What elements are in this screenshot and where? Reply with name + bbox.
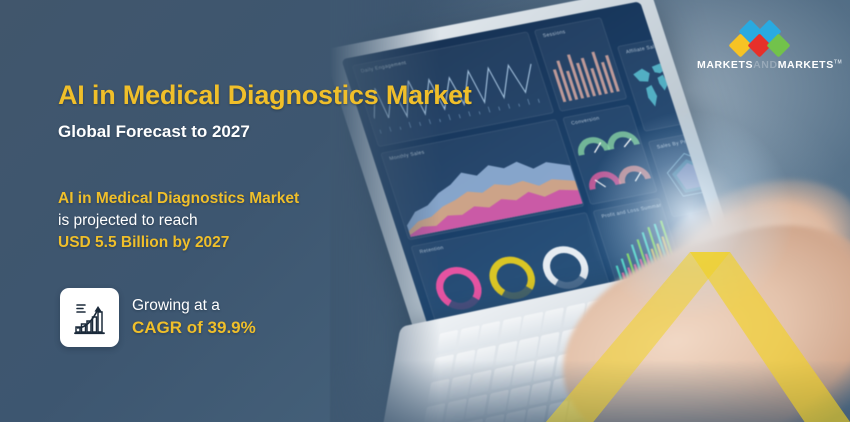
cagr-text: Growing at a CAGR of 39.9% xyxy=(132,296,256,338)
donut-ring xyxy=(484,253,541,303)
screen-glow xyxy=(585,110,795,320)
marketsandmarkets-logo[interactable]: MARKETSANDMARKETSTM xyxy=(697,22,822,71)
panel-title: Sessions xyxy=(542,29,566,39)
logo-trademark: TM xyxy=(834,60,842,66)
cagr-prefix: Growing at a xyxy=(132,296,256,316)
logo-diamonds-icon xyxy=(724,22,796,56)
logo-word-markets-2: MARKETS xyxy=(778,59,834,71)
growth-bar-chart-arrow-icon xyxy=(60,288,119,347)
photo-left-fade xyxy=(330,0,440,422)
pitch-block: AI in Medical Diagnostics Market is proj… xyxy=(58,188,299,254)
marketing-banner: Daily Engagement xyxy=(0,0,850,422)
page-title: AI in Medical Diagnostics Market xyxy=(58,80,472,111)
logo-word-and: AND xyxy=(753,59,778,71)
bar-chart-svg xyxy=(543,34,624,107)
cagr-block: Growing at a CAGR of 39.9% xyxy=(60,288,256,347)
pitch-line-1: AI in Medical Diagnostics Market xyxy=(58,188,299,210)
cagr-value: CAGR of 39.9% xyxy=(132,317,256,339)
photo-bottom-fade xyxy=(330,360,850,422)
donut-ring xyxy=(537,242,594,292)
page-subtitle: Global Forecast to 2027 xyxy=(58,122,250,142)
logo-wordmark: MARKETSANDMARKETSTM xyxy=(697,59,822,71)
pitch-line-2: is projected to reach xyxy=(58,210,299,232)
logo-word-markets-1: MARKETS xyxy=(697,59,753,71)
pitch-line-3: USD 5.5 Billion by 2027 xyxy=(58,232,299,254)
